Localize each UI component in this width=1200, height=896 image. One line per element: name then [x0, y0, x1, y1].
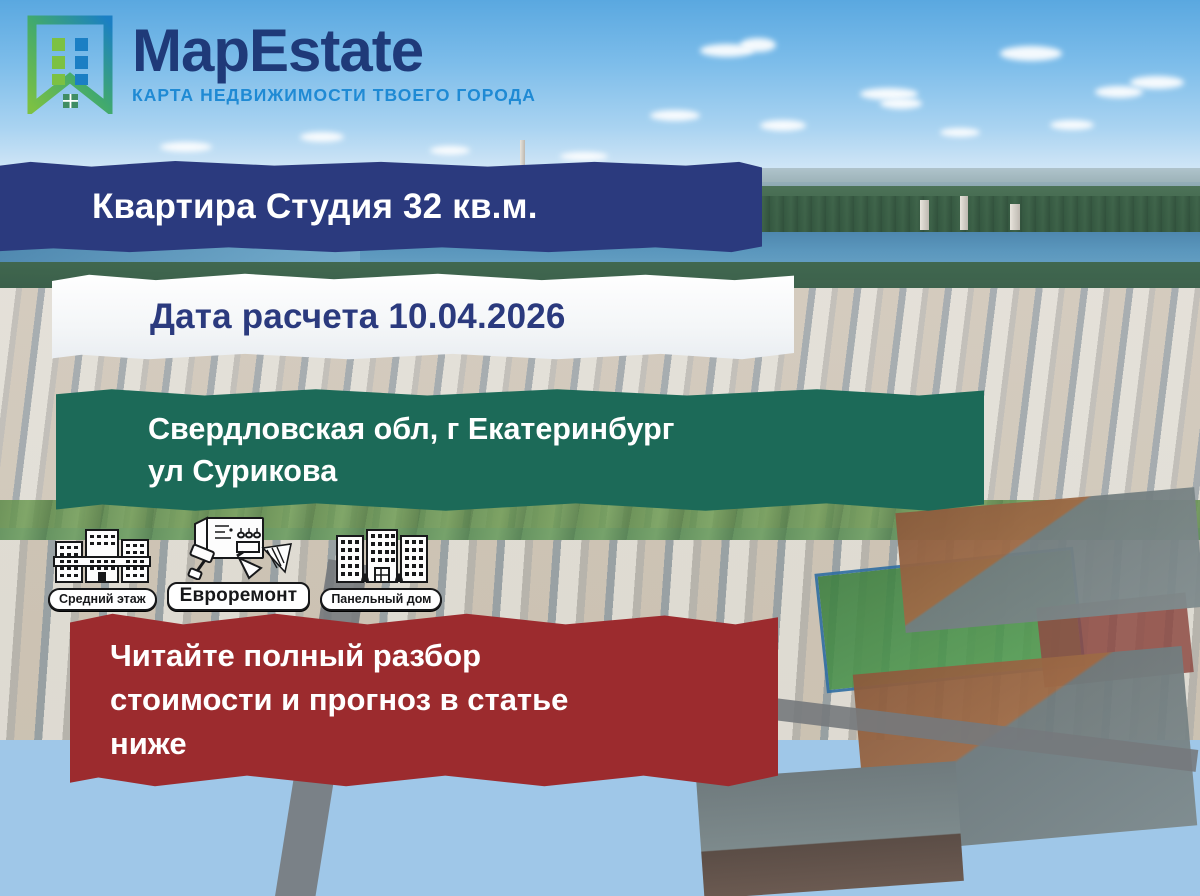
apartment-buildings-icon [52, 524, 152, 586]
cloud [1000, 46, 1062, 61]
cloud [1050, 120, 1094, 130]
cloud [740, 38, 776, 52]
distant-tower [1010, 204, 1020, 230]
cloud [650, 110, 700, 121]
panel-house-icon [329, 524, 433, 586]
distant-tower [920, 200, 929, 230]
cloud [1095, 86, 1143, 98]
distant-tower [960, 196, 968, 230]
badge-srednij-etazh[interactable]: Средний этаж [48, 524, 157, 611]
address-line-1: Свердловская обл, г Екатеринбург [56, 408, 674, 450]
cloud [160, 142, 212, 152]
cloud [560, 152, 608, 161]
badge-panelnyj-dom[interactable]: Панельный дом [320, 524, 442, 611]
cta-line-2: стоимости и прогноз в статье [70, 678, 568, 722]
property-title-banner: Квартира Студия 32 кв.м. [0, 160, 762, 254]
brand-tagline: КАРТА НЕДВИЖИМОСТИ ТВОЕГО ГОРОДА [132, 85, 536, 106]
cloud [430, 146, 470, 155]
brand-logo[interactable]: MapEstate КАРТА НЕДВИЖИМОСТИ ТВОЕГО ГОРО… [22, 14, 536, 114]
cloud [760, 120, 806, 131]
badge-evroremont[interactable]: Евроремонт [167, 518, 311, 611]
cloud [1130, 76, 1184, 89]
address-banner: Свердловская обл, г Екатеринбург ул Сури… [56, 388, 984, 512]
calculation-date-text: Дата расчета 10.04.2026 [52, 297, 566, 337]
cloud [880, 98, 922, 109]
calculation-date-banner: Дата расчета 10.04.2026 [52, 272, 794, 362]
address-line-2: ул Сурикова [56, 450, 337, 492]
cloud [940, 128, 980, 137]
badge-label: Евроремонт [167, 582, 311, 611]
badge-label: Панельный дом [320, 588, 442, 611]
brand-name: MapEstate [132, 22, 536, 81]
property-title-text: Квартира Студия 32 кв.м. [0, 187, 538, 227]
cta-line-3: ниже [70, 722, 187, 766]
cta-line-1: Читайте полный разбор [70, 634, 481, 678]
renovation-tools-icon [179, 518, 297, 580]
cloud [300, 132, 344, 142]
cta-banner: Читайте полный разбор стоимости и прогно… [70, 612, 778, 788]
feature-badges: Средний этаж [48, 518, 442, 611]
badge-label: Средний этаж [48, 588, 157, 611]
map-bookmark-building-icon [22, 14, 118, 114]
